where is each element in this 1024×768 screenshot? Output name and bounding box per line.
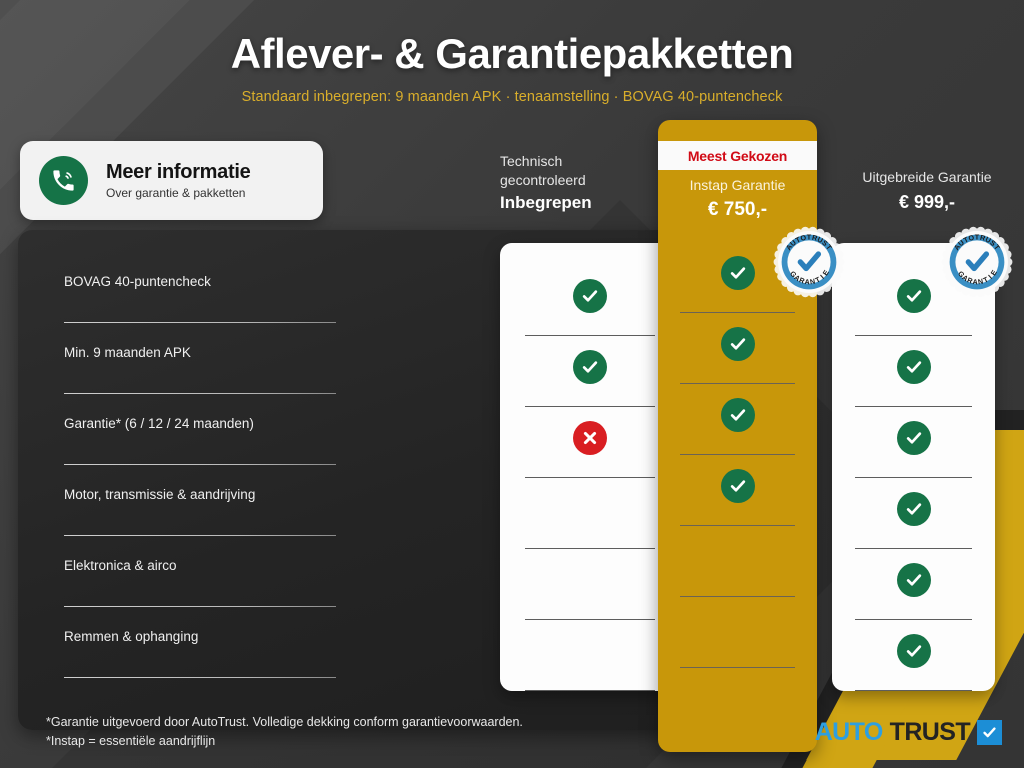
mark-row [500,407,680,478]
mark-row [500,549,680,620]
column-1-marks [500,265,680,691]
check-icon [897,350,931,384]
brand-part-trust: TRUST [890,718,970,747]
autotrust-garantie-seal: AUTOTRUSTGARANTIE [941,226,1013,298]
mark-cell [721,327,755,361]
page-title: Aflever- & Garantiepakketten [0,30,1024,78]
check-icon [897,492,931,526]
most-chosen-label: Meest Gekozen [688,148,787,164]
column-3-price: € 999,- [832,192,1022,213]
mark-row [500,620,680,691]
check-icon [897,563,931,597]
more-info-title: Meer informatie [106,161,250,184]
feature-label: Garantie* (6 / 12 / 24 maanden) [64,394,336,431]
mark-cell [721,398,755,432]
mark-row [500,478,680,549]
mark-cell [897,492,931,526]
autotrust-logo: AUTO TRUST [815,718,1002,747]
column-1-header: Technisch gecontroleerd Inbegrepen [500,152,675,213]
check-icon [573,279,607,313]
brand-part-auto: AUTO [815,718,883,747]
mark-cell [721,256,755,290]
mark-cell [897,563,931,597]
cross-icon [573,421,607,455]
column-3-name: Uitgebreide Garantie [832,168,1022,187]
column-1-line2: gecontroleerd [500,171,675,190]
column-3-card[interactable]: Tarieven afhankelijk van voertuig en kil… [832,243,995,691]
check-icon [721,398,755,432]
mark-row [832,407,995,478]
mark-divider [855,690,972,691]
page-subtitle: Standaard inbegrepen: 9 maanden APK · te… [0,89,1024,105]
column-2-card[interactable]: Meest Gekozen Instap Garantie € 750,- [658,120,817,752]
mark-row [500,336,680,407]
mark-row [658,455,817,526]
mark-row [832,478,995,549]
feature-list: BOVAG 40-puntencheckMin. 9 maanden APKGa… [64,252,336,678]
mark-cell [721,469,755,503]
column-2-name: Instap Garantie [658,177,817,193]
more-info-text: Meer informatie Over garantie & pakkette… [106,161,250,200]
feature-row: Min. 9 maanden APK [64,323,336,394]
feature-row: Garantie* (6 / 12 / 24 maanden) [64,394,336,465]
mark-row [832,549,995,620]
header: Aflever- & Garantiepakketten Standaard i… [0,0,1024,105]
feature-label: BOVAG 40-puntencheck [64,252,336,289]
mark-cell [573,279,607,313]
more-info-card[interactable]: Meer informatie Over garantie & pakkette… [20,141,323,220]
footnotes: *Garantie uitgevoerd door AutoTrust. Vol… [46,713,523,751]
feature-label: Motor, transmissie & aandrijving [64,465,336,502]
feature-label: Min. 9 maanden APK [64,323,336,360]
check-icon [897,421,931,455]
footnote-1: *Garantie uitgevoerd door AutoTrust. Vol… [46,713,523,732]
column-3-header: Uitgebreide Garantie € 999,- [832,168,1022,213]
feature-row: Remmen & ophanging [64,607,336,678]
mark-row [658,384,817,455]
check-icon [721,469,755,503]
column-1-value: Inbegrepen [500,193,675,213]
mark-divider [525,690,655,691]
column-3-marks [832,265,995,691]
mark-cell [897,350,931,384]
mark-divider [680,667,794,668]
autotrust-garantie-seal: AUTOTRUSTGARANTIE [773,226,845,298]
check-icon [721,327,755,361]
mark-row [658,313,817,384]
feature-label: Remmen & ophanging [64,607,336,644]
column-2-price: € 750,- [658,199,817,221]
check-icon [573,350,607,384]
feature-row: Motor, transmissie & aandrijving [64,465,336,536]
poster-stage: Aflever- & Garantiepakketten Standaard i… [0,0,1024,768]
mark-row [832,336,995,407]
feature-label: Elektronica & airco [64,536,336,573]
most-chosen-ribbon: Meest Gekozen [658,141,817,170]
check-icon [897,634,931,668]
mark-row [500,265,680,336]
check-icon [721,256,755,290]
mark-cell [897,421,931,455]
column-2-marks [658,242,817,668]
mark-cell [573,350,607,384]
feature-divider [64,677,336,678]
mark-row [832,620,995,691]
mark-cell [573,421,607,455]
column-1-line1: Technisch [500,152,675,171]
footnote-2: *Instap = essentiële aandrijflijn [46,732,523,751]
feature-row: BOVAG 40-puntencheck [64,252,336,323]
more-info-subtitle: Over garantie & pakketten [106,186,250,200]
mark-row [658,526,817,597]
mark-row [658,597,817,668]
check-box-icon [977,720,1002,745]
check-icon [897,279,931,313]
mark-cell [897,279,931,313]
phone-call-icon [39,156,88,205]
column-2-header: Instap Garantie € 750,- [658,177,817,221]
feature-row: Elektronica & airco [64,536,336,607]
mark-cell [897,634,931,668]
column-1-card[interactable] [500,243,680,691]
